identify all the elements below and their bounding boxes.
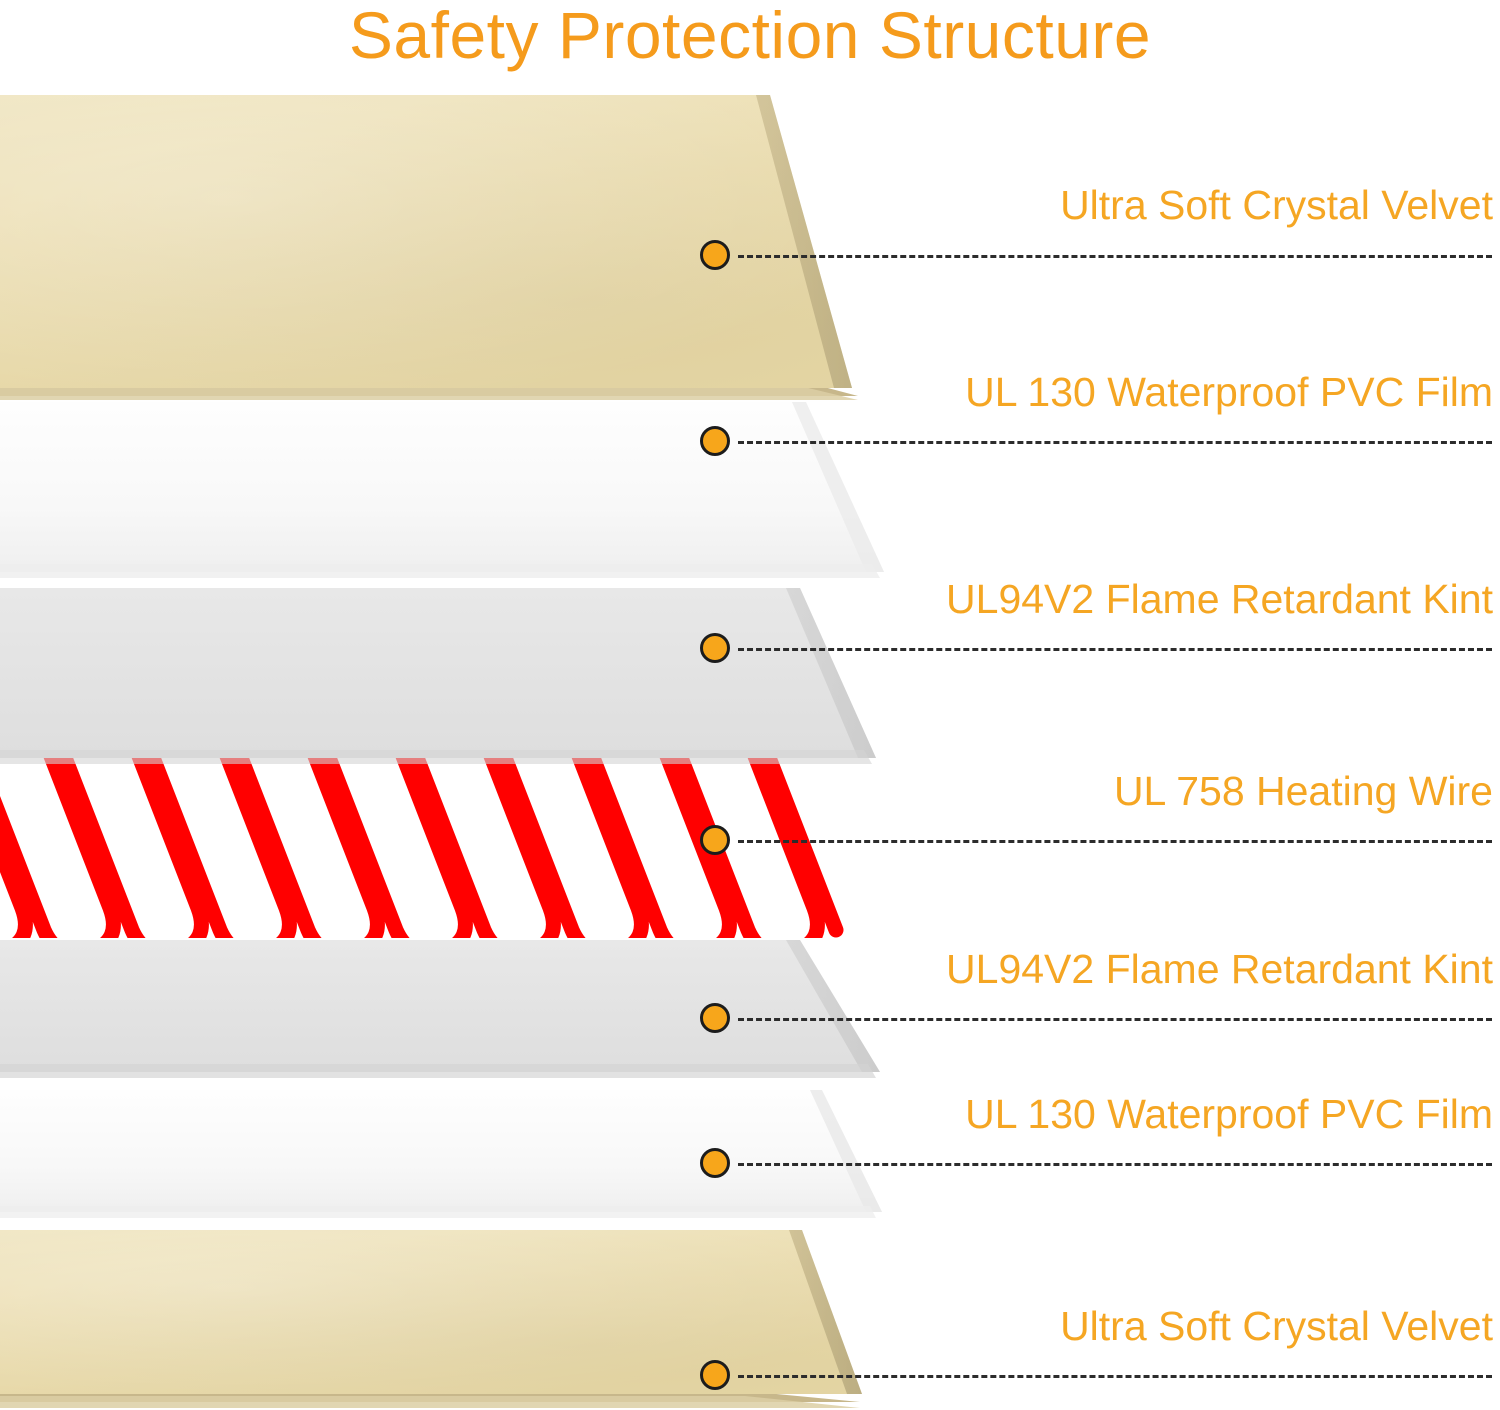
callout-marker-5[interactable] bbox=[700, 1148, 730, 1178]
layer-label-ultra-soft-crystal-velvet-top: Ultra Soft Crystal Velvet bbox=[733, 185, 1493, 226]
layer-pvc-film-top bbox=[0, 402, 884, 578]
layer-label-ul-130-waterproof-pvc-film-bottom: UL 130 Waterproof PVC Film bbox=[733, 1094, 1493, 1135]
callout-marker-0[interactable] bbox=[700, 240, 730, 270]
layer-label-ultra-soft-crystal-velvet-bottom: Ultra Soft Crystal Velvet bbox=[733, 1306, 1493, 1347]
layer-label-ul-758-heating-wire: UL 758 Heating Wire bbox=[733, 771, 1493, 812]
callout-marker-1[interactable] bbox=[700, 426, 730, 456]
layer-label-ul94v2-flame-retardant-kint-bottom: UL94V2 Flame Retardant Kint bbox=[733, 949, 1493, 990]
callout-marker-4[interactable] bbox=[700, 1003, 730, 1033]
leader-line-6 bbox=[738, 1375, 1492, 1378]
layer-label-ul-130-waterproof-pvc-film-top: UL 130 Waterproof PVC Film bbox=[733, 372, 1493, 413]
callout-marker-6[interactable] bbox=[700, 1360, 730, 1390]
layer-label-ul94v2-flame-retardant-kint-top: UL94V2 Flame Retardant Kint bbox=[733, 579, 1493, 620]
infographic-canvas: Safety Protection Structure bbox=[0, 0, 1500, 1410]
leader-line-4 bbox=[738, 1018, 1492, 1021]
leader-line-2 bbox=[738, 648, 1492, 651]
leader-line-0 bbox=[738, 255, 1492, 258]
callout-marker-3[interactable] bbox=[700, 825, 730, 855]
leader-line-5 bbox=[738, 1163, 1492, 1166]
callout-marker-2[interactable] bbox=[700, 633, 730, 663]
leader-line-1 bbox=[738, 441, 1492, 444]
leader-line-3 bbox=[738, 840, 1492, 843]
layer-velvet-top bbox=[0, 95, 858, 400]
